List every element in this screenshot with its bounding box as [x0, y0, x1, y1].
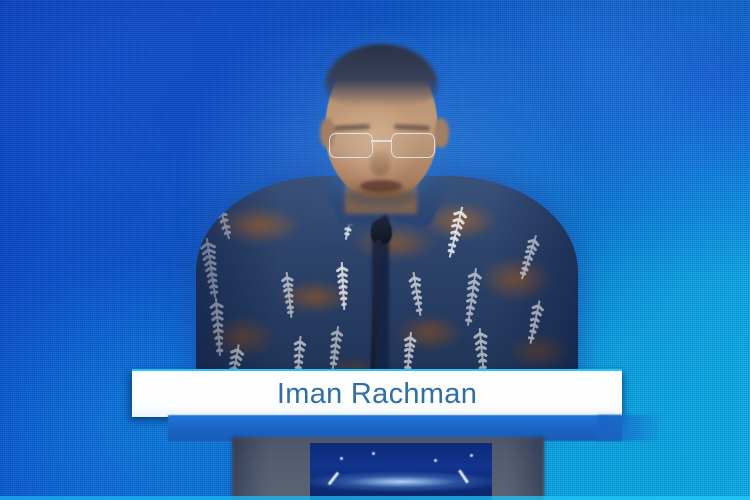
fern-leaflet — [207, 278, 213, 284]
fern-leaflet — [218, 199, 226, 204]
fern-leaflet — [340, 302, 345, 306]
podium-shadow-right — [510, 437, 544, 500]
microphone-icon — [371, 219, 392, 244]
batik-fern-motif — [198, 237, 223, 299]
fern-leaflet — [481, 352, 487, 357]
fern-leaflet — [526, 244, 533, 248]
fern-leaflet — [344, 227, 348, 231]
fern-leaflet — [532, 330, 537, 335]
fern-leaflet — [234, 361, 241, 368]
fern-leaflet — [409, 342, 416, 348]
fern-leaflet — [534, 317, 540, 323]
fern-leaflet — [209, 260, 216, 266]
fern-leaflet — [524, 267, 529, 272]
fern-leaflet — [521, 266, 525, 270]
fern-leaflet — [456, 224, 462, 231]
fern-leaflet — [470, 305, 476, 311]
fern-leaflet — [343, 302, 347, 306]
fern-leaflet — [522, 261, 527, 265]
fern-leaflet — [524, 255, 529, 259]
fern-leaflet — [229, 360, 236, 365]
fern-leaflet — [338, 284, 344, 289]
fern-leaflet — [466, 298, 472, 303]
fern-leaflet — [342, 284, 348, 289]
fern-leaflet — [466, 305, 472, 310]
batik-fern-motif — [515, 233, 542, 281]
podium-sparkle-4 — [470, 454, 473, 457]
fern-leaflet — [527, 239, 534, 243]
fern-leaflet — [474, 339, 481, 346]
fern-leaflet — [450, 249, 455, 254]
fern-leaflet — [205, 266, 212, 272]
fern-leaflet — [471, 298, 477, 304]
fern-leaflet — [531, 245, 537, 251]
podium-sparkle-1 — [340, 457, 343, 460]
fern-leaflet — [215, 341, 220, 346]
fern-leaflet — [330, 349, 336, 354]
fern-leaflet — [212, 322, 219, 328]
fern-leaflet — [223, 218, 229, 222]
fern-leaflet — [415, 308, 419, 312]
fern-leaflet — [529, 250, 535, 256]
fern-leaflet — [219, 348, 224, 352]
batik-fern-motif — [460, 267, 484, 327]
fern-leaflet — [472, 285, 479, 292]
fern-leaflet — [528, 329, 533, 333]
fern-leaflet — [221, 212, 228, 217]
fern-leaflet — [216, 193, 225, 198]
fern-leaflet — [467, 285, 474, 291]
fern-leaflet — [282, 282, 289, 288]
fern-leaflet — [410, 283, 416, 289]
fern-leaflet — [219, 219, 225, 225]
fern-leaflet — [336, 337, 343, 343]
name-banner: Iman Rachman — [132, 369, 622, 417]
fern-leaflet — [339, 296, 344, 301]
fern-leaflet — [344, 232, 348, 236]
fern-leaflet — [413, 276, 420, 281]
fern-leaflet — [415, 289, 421, 294]
fern-leaflet — [475, 345, 482, 351]
fern-leaflet — [533, 239, 539, 246]
fern-leaflet — [408, 277, 415, 284]
fern-leaflet — [220, 205, 227, 210]
fern-leaflet — [223, 231, 228, 236]
fern-leaflet — [210, 193, 218, 201]
fern-leaflet — [414, 302, 419, 307]
fern-stem — [215, 298, 221, 356]
fern-stem — [214, 189, 230, 240]
fern-leaflet — [286, 276, 293, 282]
fern-leaflet — [404, 359, 409, 364]
fern-leaflet — [299, 340, 306, 346]
fern-leaflet — [414, 283, 421, 288]
fern-leaflet — [283, 288, 289, 294]
fern-leaflet — [288, 299, 293, 304]
batik-fern-motif — [442, 205, 469, 259]
fern-leaflet — [447, 249, 451, 253]
fern-leaflet — [468, 318, 473, 323]
fern-leaflet — [287, 288, 293, 293]
fern-leaflet — [211, 272, 217, 277]
speaker-name-text: Iman Rachman — [277, 378, 477, 411]
fern-leaflet — [218, 335, 224, 340]
fern-leaflet — [333, 355, 338, 360]
fern-leaflet — [298, 353, 304, 358]
fern-leaflet — [536, 311, 542, 317]
fern-leaflet — [236, 349, 244, 356]
fern-leaflet — [418, 308, 422, 312]
podium-sparkle-2 — [372, 452, 375, 455]
fern-leaflet — [466, 292, 473, 297]
fern-leaflet — [346, 232, 350, 236]
fern-leaflet — [290, 310, 294, 314]
fern-leaflet — [211, 278, 217, 283]
fern-leaflet — [293, 347, 300, 352]
fern-leaflet — [281, 276, 288, 282]
fern-leaflet — [449, 236, 455, 240]
fern-leaflet — [288, 293, 294, 298]
fern-leaflet — [213, 328, 219, 334]
fern-leaflet — [329, 355, 334, 360]
fern-leaflet — [208, 284, 213, 289]
fern-leaflet — [450, 230, 456, 235]
fern-leaflet — [217, 322, 224, 328]
fern-leaflet — [218, 341, 223, 346]
broadcast-frame: Iman Rachman — [0, 0, 750, 500]
fern-leaflet — [235, 355, 242, 362]
glasses-bridge — [371, 140, 391, 142]
fern-leaflet — [217, 328, 223, 333]
fern-stem — [529, 300, 540, 343]
fern-leaflet — [287, 282, 294, 287]
fern-leaflet — [214, 206, 221, 213]
fern-leaflet — [221, 225, 226, 230]
fern-leaflet — [453, 237, 459, 243]
fern-leaflet — [404, 336, 411, 342]
fern-leaflet — [526, 261, 531, 266]
fern-leaflet — [202, 254, 210, 261]
fern-leaflet — [214, 335, 220, 340]
fern-leaflet — [216, 348, 221, 353]
fern-leaflet — [473, 332, 481, 339]
fern-leaflet — [528, 335, 532, 339]
fern-leaflet — [294, 359, 299, 364]
fern-leaflet — [530, 336, 534, 340]
fern-leaflet — [227, 231, 232, 235]
podium-sparkle-3 — [434, 459, 437, 462]
fern-leaflet — [477, 359, 483, 364]
fern-leaflet — [339, 290, 345, 295]
podium-shadow-left — [232, 437, 266, 500]
fern-leaflet — [216, 309, 224, 315]
fern-leaflet — [465, 311, 470, 316]
fern-leaflet — [458, 217, 465, 224]
fern-leaflet — [229, 354, 237, 359]
fern-leaflet — [408, 348, 414, 354]
fern-leaflet — [480, 345, 487, 351]
fern-leaflet — [217, 212, 223, 218]
fern-leaflet — [200, 243, 208, 251]
fern-leaflet — [453, 211, 461, 216]
fern-leaflet — [481, 358, 487, 363]
fern-leaflet — [212, 200, 219, 207]
fern-stem — [520, 235, 536, 279]
fern-leaflet — [480, 339, 487, 345]
fern-leaflet — [465, 317, 470, 321]
batik-fern-motif — [524, 299, 546, 345]
fern-leaflet — [404, 342, 411, 347]
fern-leaflet — [201, 249, 209, 256]
fern-leaflet — [293, 340, 300, 346]
fern-leaflet — [525, 250, 531, 254]
fern-leaflet — [520, 272, 524, 276]
fern-leaflet — [416, 295, 421, 300]
stage-front-band-right — [598, 415, 658, 441]
fern-leaflet — [217, 315, 224, 321]
fern-leaflet — [529, 323, 534, 327]
fern-leaflet — [287, 311, 291, 315]
glasses-lens-left — [329, 133, 373, 158]
fern-leaflet — [208, 254, 216, 260]
fern-leaflet — [225, 224, 230, 228]
fern-leaflet — [212, 284, 217, 289]
podium-mark-right — [458, 469, 469, 483]
batik-fern-motif — [335, 262, 351, 311]
fern-leaflet — [342, 272, 349, 278]
fern-leaflet — [336, 272, 343, 278]
fern-leaflet — [341, 266, 349, 272]
fern-stem — [341, 262, 346, 310]
fern-leaflet — [343, 296, 348, 301]
fern-stem — [412, 272, 421, 316]
fern-leaflet — [537, 305, 544, 312]
glasses-lens-right — [391, 133, 435, 158]
fern-leaflet — [409, 336, 416, 342]
chin-shadow — [344, 188, 418, 206]
podium-led-panel — [310, 443, 492, 500]
fern-leaflet — [455, 230, 461, 236]
fern-leaflet — [230, 348, 238, 354]
fern-leaflet — [209, 302, 217, 309]
fern-leaflet — [451, 223, 458, 228]
fern-leaflet — [210, 266, 217, 271]
batik-fern-motif — [407, 271, 427, 316]
fern-leaflet — [211, 315, 218, 321]
batik-fern-motif — [280, 271, 298, 318]
fern-leaflet — [451, 243, 456, 248]
fern-leaflet — [343, 290, 349, 295]
fern-leaflet — [467, 272, 476, 278]
fern-leaflet — [330, 330, 338, 336]
fern-stem — [285, 272, 292, 318]
fern-leaflet — [330, 343, 337, 348]
fern-leaflet — [286, 305, 291, 310]
fern-leaflet — [297, 359, 302, 364]
fern-leaflet — [407, 359, 412, 364]
fern-leaflet — [285, 299, 290, 304]
fern-leaflet — [203, 260, 210, 267]
fern-leaflet — [335, 343, 341, 349]
fern-leaflet — [472, 292, 479, 298]
fern-leaflet — [206, 242, 215, 248]
fern-leaflet — [298, 347, 305, 353]
fern-leaflet — [210, 290, 215, 295]
fern-leaflet — [531, 304, 538, 309]
fern-stem — [205, 238, 215, 298]
fern-leaflet — [289, 305, 294, 309]
fern-leaflet — [448, 243, 453, 247]
fern-stem — [467, 268, 477, 326]
fern-leaflet — [533, 323, 538, 328]
fern-leaflet — [216, 302, 224, 308]
fern-leaflet — [293, 353, 299, 358]
fern-leaflet — [459, 211, 466, 218]
fern-leaflet — [411, 289, 417, 295]
podium-mark-left — [328, 472, 340, 486]
fern-leaflet — [404, 353, 410, 358]
fern-leaflet — [336, 330, 343, 337]
fern-leaflet — [412, 295, 417, 300]
fern-leaflet — [333, 362, 338, 367]
fern-leaflet — [347, 227, 352, 232]
fern-leaflet — [522, 272, 526, 276]
batik-fern-motif — [207, 187, 237, 241]
fern-leaflet — [334, 349, 340, 355]
fern-leaflet — [469, 311, 474, 316]
fern-leaflet — [417, 301, 422, 305]
fern-leaflet — [329, 361, 334, 365]
fern-leaflet — [335, 266, 342, 272]
fern-leaflet — [476, 352, 482, 358]
fern-leaflet — [210, 309, 218, 316]
fern-leaflet — [467, 279, 475, 285]
bottom-edge-strip — [0, 496, 750, 500]
fern-leaflet — [530, 317, 536, 322]
batik-fern-motif — [208, 298, 228, 357]
fern-leaflet — [206, 272, 212, 278]
fern-leaflet — [284, 293, 290, 298]
fern-leaflet — [474, 273, 482, 280]
fern-leaflet — [531, 311, 538, 316]
fern-leaflet — [330, 337, 337, 342]
fern-leaflet — [404, 348, 410, 353]
nose — [370, 150, 390, 176]
fern-leaflet — [342, 278, 349, 283]
fern-leaflet — [527, 256, 532, 262]
fern-leaflet — [213, 290, 218, 294]
fern-leaflet — [408, 353, 414, 358]
fern-stem — [448, 207, 463, 258]
fern-leaflet — [452, 217, 459, 222]
fern-leaflet — [473, 279, 481, 286]
fern-leaflet — [479, 332, 487, 338]
fern-leaflet — [337, 278, 343, 284]
fern-leaflet — [207, 248, 215, 254]
